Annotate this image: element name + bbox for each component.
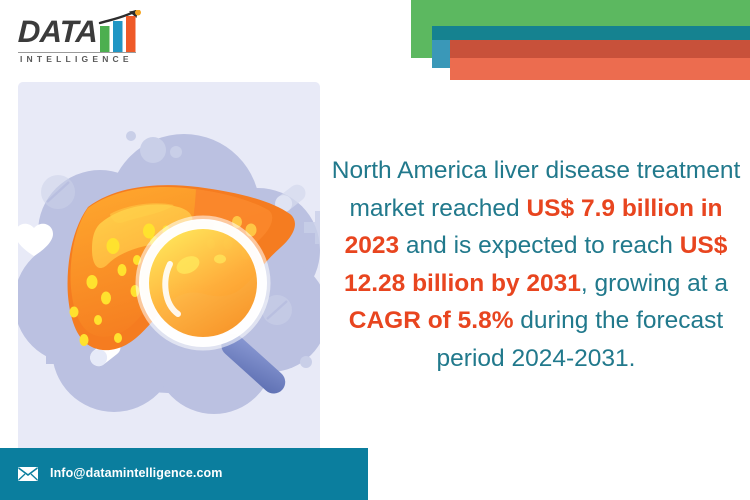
decorative-bar-orange	[450, 58, 750, 80]
liver-illustration-card	[18, 82, 320, 456]
statement-text: , growing at a	[581, 270, 728, 297]
logo-tagline: INTELLIGENCE	[20, 54, 133, 64]
liver-examination-illustration	[18, 82, 320, 456]
statement-text: and is expected to reach	[399, 232, 680, 259]
infographic-canvas: DATA INTELLIGENCE	[0, 0, 750, 500]
envelope-icon	[18, 467, 38, 481]
footer-contact-bar: Info@datamintelligence.com	[0, 448, 368, 500]
logo-wordmark: DATA	[17, 14, 98, 50]
statement-highlight: CAGR of 5.8%	[349, 307, 514, 334]
bubble-dot-icon-3	[300, 356, 312, 368]
bar-chart-growth-icon	[96, 10, 142, 58]
brand-logo: DATA INTELLIGENCE	[18, 8, 198, 70]
pill-tablet-icon	[41, 175, 75, 209]
logo-divider-rule	[18, 52, 136, 53]
contact-email[interactable]: Info@datamintelligence.com	[50, 466, 222, 480]
market-statement: North America liver disease treatment ma…	[330, 152, 742, 377]
